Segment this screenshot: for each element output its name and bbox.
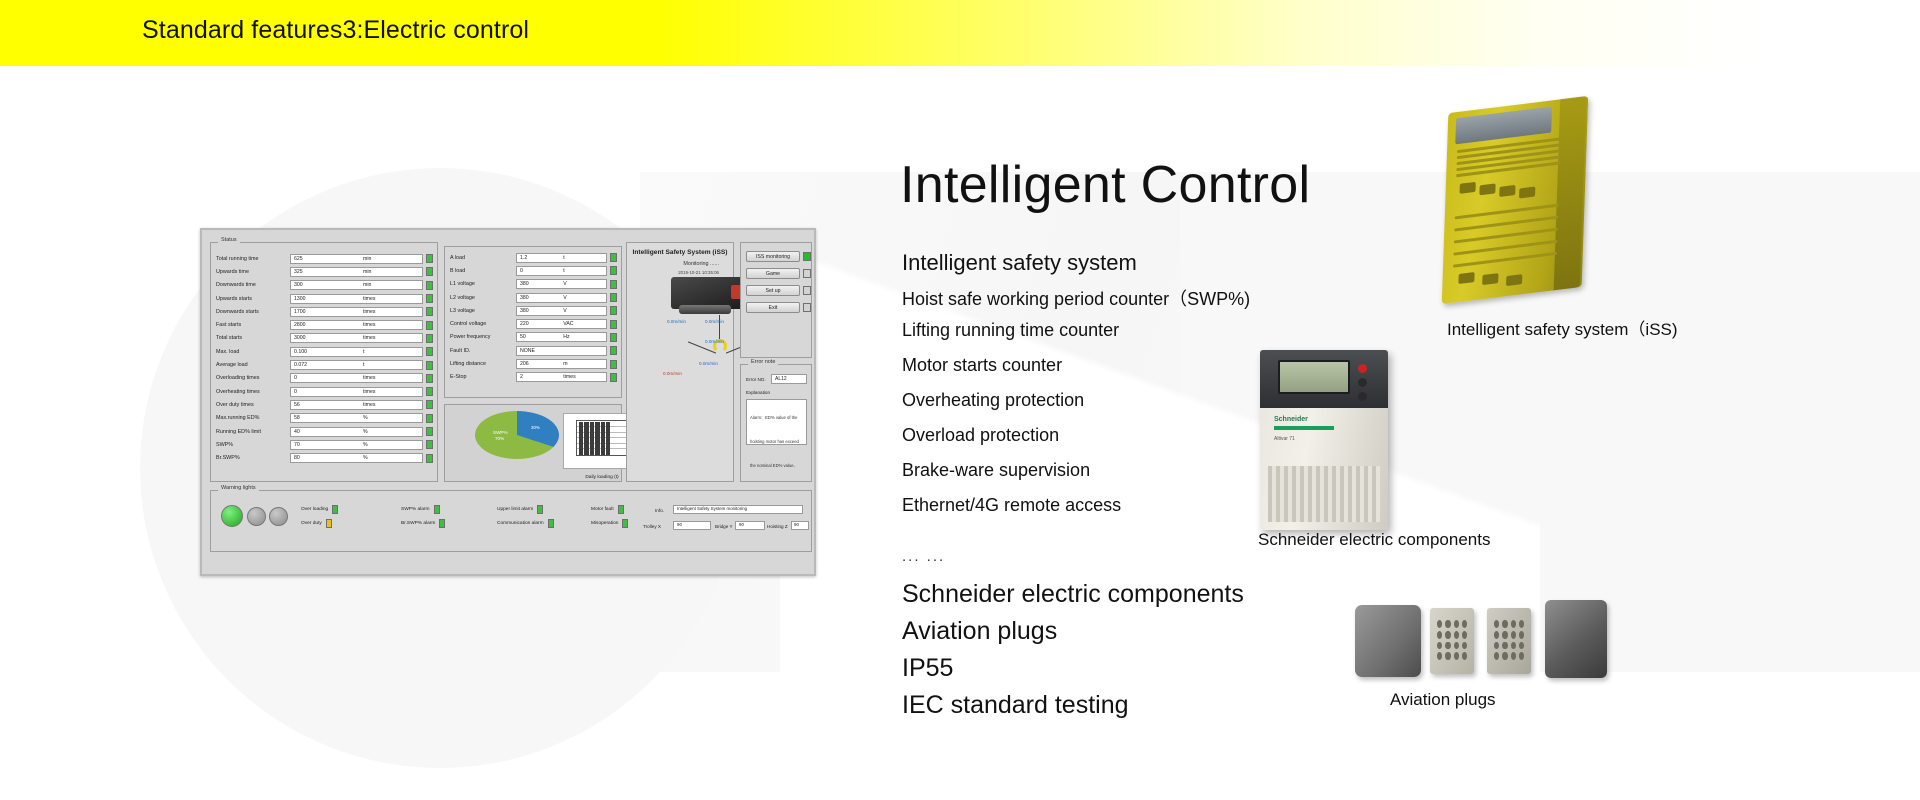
status-row-label: Overloading times: [216, 375, 290, 381]
status-row-value: 40: [291, 429, 300, 435]
status-row-label: Total starts: [216, 335, 290, 341]
speed-label-4: 0.0m/min: [699, 361, 718, 366]
lamp-yellow-off: [247, 507, 266, 526]
chart-group: SWP% 70% 30% Daily loading (t): [444, 404, 622, 482]
status-row: Over duty times56times: [216, 398, 433, 411]
status-row-value: 80: [291, 455, 300, 461]
error-note-group: Error note Error NO. AL12 Explanation Al…: [740, 364, 812, 482]
status-row-led: [610, 293, 617, 302]
status-row: Upwards starts1300times: [216, 292, 433, 305]
status-row-value: 58: [291, 415, 300, 421]
status-row-unit: V: [563, 295, 566, 301]
status-row-value: 0: [291, 375, 297, 381]
drive-model-text: Altivar 71: [1274, 436, 1295, 442]
trolley-value: 90: [677, 522, 682, 527]
hoist-drum: [679, 305, 731, 314]
warning-item: Communication alarm: [497, 519, 554, 528]
aviation-plug-3: [1487, 608, 1531, 674]
status-row-unit: V: [563, 281, 566, 287]
feature-item: Brake-ware supervision: [902, 460, 1090, 481]
status-row-field[interactable]: 325min: [290, 267, 423, 277]
status-row-label: Fault ID.: [450, 348, 516, 354]
hmi-button-led: [803, 286, 811, 295]
status-row-led: [426, 294, 433, 303]
status-row-label: Total running time: [216, 256, 290, 262]
measurement-rows: A load1.2tB load0tL1 voltage380VL2 volta…: [450, 251, 617, 384]
bridge-label: Bridge Y: [715, 524, 733, 529]
hmi-button-iss-monitoring[interactable]: ISS monitoring: [746, 251, 800, 262]
swp-pie-chart: SWP% 70% 30%: [475, 411, 559, 465]
chart-bar: [579, 422, 583, 455]
status-row-field[interactable]: 206m: [516, 359, 607, 369]
status-group-label: Status: [218, 237, 240, 243]
status-row-led: [426, 400, 433, 409]
status-row: Max. load0.100t: [216, 345, 433, 358]
status-left-rows: Total running time625minUpwards time325m…: [216, 252, 433, 465]
status-row-label: L1 voltage: [450, 281, 516, 287]
status-row-unit: times: [563, 374, 575, 380]
status-row-unit: times: [363, 375, 375, 381]
iss-module-image: [1442, 96, 1589, 304]
feature-item: Ethernet/4G remote access: [902, 495, 1121, 516]
status-row-field[interactable]: 380V: [516, 293, 607, 303]
feature-item: Overheating protection: [902, 390, 1084, 411]
warning-item: Motor fault: [591, 505, 624, 514]
status-row-unit: %: [363, 429, 368, 435]
status-row-unit: t: [563, 268, 564, 274]
status-row-led: [426, 334, 433, 343]
status-row-led: [426, 281, 433, 290]
status-row-field[interactable]: 1700times: [290, 307, 423, 317]
feature-item: Motor starts counter: [902, 355, 1062, 376]
status-row-label: Br.SWP%: [216, 455, 290, 461]
status-row-value: 0.100: [291, 349, 307, 355]
status-row-led: [426, 454, 433, 463]
status-row-label: Downwards time: [216, 282, 290, 288]
status-row-led: [426, 254, 433, 263]
status-row-value: 3000: [291, 335, 306, 341]
hoist-label: Hoisting Z: [767, 524, 788, 529]
status-row-led: [610, 306, 617, 315]
status-row-field[interactable]: 220VAC: [516, 319, 607, 329]
status-row: Overloading times0times: [216, 372, 433, 385]
warning-item: SWP% alarm: [401, 505, 440, 514]
status-row-unit: min: [363, 269, 371, 275]
status-row-label: SWP%: [216, 442, 290, 448]
status-row-field[interactable]: 0.072t: [290, 360, 423, 370]
explanation-box: Alarm：ED% value of the hoisting motor ha…: [746, 399, 807, 445]
status-row-value: 70: [291, 442, 300, 448]
drive-knob-black-2: [1358, 392, 1367, 401]
pie-value-swp: 70%: [495, 436, 504, 441]
status-row-field[interactable]: 1300times: [290, 294, 423, 304]
aviation-plug-1: [1355, 605, 1421, 677]
status-row: A load1.2t: [450, 251, 617, 264]
iss-view-date: 2019-10-21 10:35:06: [678, 270, 719, 275]
iss-monitor-view: Intelligent Safety System (iSS) Monitori…: [626, 242, 734, 482]
status-row-unit: times: [363, 389, 375, 395]
status-row: Fault ID.NONE: [450, 344, 617, 357]
chart-bar: [601, 422, 605, 455]
status-row-value: 300: [291, 282, 303, 288]
status-row-field[interactable]: 2800times: [290, 320, 423, 330]
status-row-label: A load: [450, 255, 516, 261]
status-row-unit: V: [563, 308, 566, 314]
status-row-value: 380: [517, 308, 529, 314]
status-row-value: 0: [517, 268, 523, 274]
ellipsis-line: ... ...: [902, 548, 945, 565]
status-row: L1 voltage380V: [450, 278, 617, 291]
status-row-label: Overheating times: [216, 389, 290, 395]
status-row-unit: Hz: [563, 334, 569, 340]
status-row: Fast starts2800times: [216, 318, 433, 331]
status-row-unit: m: [563, 361, 567, 367]
status-row-unit: min: [363, 282, 371, 288]
warning-item: Br.SWP% alarm: [401, 519, 445, 528]
status-row-led: [426, 267, 433, 276]
status-row: Upwards time325min: [216, 265, 433, 278]
explanation-text: Alarm：ED% value of the hoisting motor ha…: [750, 415, 799, 468]
status-row-unit: times: [363, 296, 375, 302]
status-row-field[interactable]: 0t: [516, 266, 607, 276]
caption-schneider: Schneider electric components: [1258, 530, 1490, 550]
status-row-field[interactable]: 70%: [290, 440, 423, 450]
status-row-value: 2: [517, 374, 523, 380]
hmi-button-set-up[interactable]: Set up: [746, 285, 800, 296]
status-row-label: Fast starts: [216, 322, 290, 328]
explanation-label: Explanation: [746, 390, 770, 395]
hmi-button-led: [803, 252, 811, 261]
aviation-plug-2: [1430, 608, 1474, 674]
chart-bar: [606, 422, 610, 455]
slide-root: Standard features3:Electric control Stat…: [0, 0, 1920, 800]
status-row-value: 2800: [291, 322, 306, 328]
lamp-green: [221, 505, 243, 527]
warning-item: Over duty: [301, 519, 332, 528]
iss-view-title: Intelligent Safety System (iSS): [627, 249, 733, 256]
status-row-field[interactable]: 50Hz: [516, 332, 607, 342]
status-group: Status Total running time625minUpwards t…: [210, 242, 438, 482]
status-row-label: Running ED% limit: [216, 429, 290, 435]
status-row-led: [610, 333, 617, 342]
status-row-led: [426, 347, 433, 356]
status-row-field[interactable]: 56times: [290, 400, 423, 410]
subheading: Intelligent safety system: [902, 250, 1137, 276]
hmi-button-game[interactable]: Game: [746, 268, 800, 279]
lamp-red-off: [269, 507, 288, 526]
big-line-item: IEC standard testing: [902, 691, 1129, 720]
status-row-value: 380: [517, 295, 529, 301]
status-row: Overheating times0times: [216, 385, 433, 398]
status-row: Total running time625min: [216, 252, 433, 265]
error-no-label: Error NO.: [746, 377, 766, 382]
status-row-field[interactable]: 58%: [290, 413, 423, 423]
status-row-value: 0.072: [291, 362, 307, 368]
big-line-item: Aviation plugs: [902, 617, 1057, 646]
measurement-group: A load1.2tB load0tL1 voltage380VL2 volta…: [444, 246, 622, 398]
info-value: Intelligent Safety System monitoring: [677, 506, 747, 511]
trolley-field[interactable]: 90: [673, 521, 711, 530]
status-row-label: Upwards starts: [216, 296, 290, 302]
page-title: Standard features3:Electric control: [142, 16, 529, 45]
status-row-value: NONE: [517, 348, 535, 354]
status-row: B load0t: [450, 264, 617, 277]
info-label: Info.: [655, 508, 664, 513]
bridge-field[interactable]: 90: [735, 521, 765, 530]
status-row-unit: %: [363, 442, 368, 448]
feature-item: Hoist safe working period counter（SWP%): [902, 285, 1250, 311]
status-row-value: 625: [291, 256, 303, 262]
status-row-unit: t: [363, 349, 364, 355]
status-row-led: [610, 280, 617, 289]
warning-item: Misoperation: [591, 519, 628, 528]
status-row: L2 voltage380V: [450, 291, 617, 304]
info-field[interactable]: Intelligent Safety System monitoring: [673, 505, 803, 514]
caption-iss: Intelligent safety system（iSS): [1447, 315, 1678, 340]
status-row-value: 50: [517, 334, 526, 340]
chart-bar: [595, 422, 599, 455]
status-row-unit: t: [363, 362, 364, 368]
hoist-field[interactable]: 90: [791, 521, 809, 530]
status-row-unit: times: [363, 322, 375, 328]
status-row-field[interactable]: 300min: [290, 280, 423, 290]
status-row-value: 56: [291, 402, 300, 408]
status-row: Power frequency50Hz: [450, 331, 617, 344]
status-row-label: Max.running ED%: [216, 415, 290, 421]
caption-plugs: Aviation plugs: [1390, 690, 1496, 710]
drive-knob-black: [1358, 378, 1367, 387]
hoist-value: 90: [794, 522, 799, 527]
drive-brand-text: Schneider: [1274, 416, 1308, 423]
status-row-led: [426, 307, 433, 316]
status-row-led: [610, 360, 617, 369]
iss-view-subtitle: Monitoring ......: [683, 261, 719, 267]
speed-label-2: 0.0m/min: [705, 319, 724, 324]
error-no-field[interactable]: AL12: [771, 374, 807, 384]
hmi-screenshot-panel: Status Total running time625minUpwards t…: [200, 228, 816, 576]
status-row-led: [426, 374, 433, 383]
status-row: Average load0.072t: [216, 358, 433, 371]
status-row-led: [610, 320, 617, 329]
status-row-value: 325: [291, 269, 303, 275]
feature-item: Overload protection: [902, 425, 1059, 446]
hmi-button-exit[interactable]: Exit: [746, 302, 800, 313]
side-button-group: ISS monitoringGameSet upExit: [740, 242, 812, 358]
status-row-field[interactable]: 1.2t: [516, 253, 607, 263]
schneider-drive-image: Schneider Altivar 71: [1260, 350, 1388, 530]
status-row-led: [426, 361, 433, 370]
feature-item: Lifting running time counter: [902, 320, 1119, 341]
pie-value-rest: 30%: [531, 425, 540, 430]
status-row-unit: VAC: [563, 321, 573, 327]
hmi-button-led: [803, 269, 811, 278]
status-row-label: Lifting distance: [450, 361, 516, 367]
status-row-field[interactable]: NONE: [516, 346, 607, 356]
warning-lights-group: Warning lights Over loadingOver dutySWP%…: [210, 490, 812, 552]
status-row-label: Average load: [216, 362, 290, 368]
status-row: Downwards starts1700times: [216, 305, 433, 318]
status-row-unit: %: [363, 455, 368, 461]
status-row-label: L3 voltage: [450, 308, 516, 314]
status-row-led: [610, 373, 617, 382]
status-row-label: L2 voltage: [450, 295, 516, 301]
hmi-button-led: [803, 303, 811, 312]
status-row-value: 1700: [291, 309, 306, 315]
status-row: Lifting distance206m: [450, 357, 617, 370]
status-row: Control voltage220VAC: [450, 317, 617, 330]
status-row: Br.SWP%80%: [216, 451, 433, 464]
error-note-label: Error note: [748, 359, 778, 365]
error-no-value: AL12: [775, 376, 787, 382]
status-row-unit: %: [363, 415, 368, 421]
headline: Intelligent Control: [900, 155, 1310, 215]
status-row-label: Downwards starts: [216, 309, 290, 315]
status-row-label: Max. load: [216, 349, 290, 355]
pie-label-swp: SWP%: [493, 430, 508, 435]
status-row-field[interactable]: 625min: [290, 254, 423, 264]
warning-item: Over loading: [301, 505, 338, 514]
status-row-unit: times: [363, 402, 375, 408]
status-row-label: Upwards time: [216, 269, 290, 275]
status-row-led: [426, 387, 433, 396]
status-row-field[interactable]: 40%: [290, 427, 423, 437]
status-row-label: B load: [450, 268, 516, 274]
status-row: Max.running ED%58%: [216, 412, 433, 425]
status-row-value: 220: [517, 321, 529, 327]
status-row-led: [610, 266, 617, 275]
status-row-field[interactable]: 3000times: [290, 333, 423, 343]
status-row: Running ED% limit40%: [216, 425, 433, 438]
status-row-led: [610, 253, 617, 262]
status-row-label: E-Stop: [450, 374, 516, 380]
status-row: E-Stop2times: [450, 371, 617, 384]
status-row: L3 voltage380V: [450, 304, 617, 317]
status-row-value: 206: [517, 361, 529, 367]
drive-knob-red: [1358, 364, 1367, 373]
status-row-label: Over duty times: [216, 402, 290, 408]
status-row-field[interactable]: 0times: [290, 373, 423, 383]
status-row-field[interactable]: 380V: [516, 279, 607, 289]
status-row-unit: t: [563, 255, 564, 261]
status-row-unit: times: [363, 335, 375, 341]
status-row-led: [426, 321, 433, 330]
status-row-field[interactable]: 2times: [516, 372, 607, 382]
status-row-field[interactable]: 80%: [290, 453, 423, 463]
status-row-value: 1300: [291, 296, 306, 302]
status-row-field[interactable]: 0.100t: [290, 347, 423, 357]
warning-lights-label: Warning lights: [218, 485, 259, 491]
big-line-item: IP55: [902, 654, 953, 683]
status-row-led: [610, 346, 617, 355]
status-row-label: Control voltage: [450, 321, 516, 327]
bridge-value: 90: [739, 522, 744, 527]
status-row: SWP%70%: [216, 438, 433, 451]
status-row-unit: min: [363, 256, 371, 262]
status-row-led: [426, 414, 433, 423]
status-row-unit: times: [363, 309, 375, 315]
status-row: Total starts3000times: [216, 332, 433, 345]
status-row-value: 380: [517, 281, 529, 287]
chart-bar: [584, 422, 588, 455]
warning-item: Upper limit alarm: [497, 505, 543, 514]
status-row-led: [426, 440, 433, 449]
status-row: Downwards time300min: [216, 279, 433, 292]
aviation-plug-4: [1545, 600, 1607, 678]
status-row-led: [426, 427, 433, 436]
status-row-value: 1.2: [517, 255, 527, 261]
speed-label-1: 0.0m/min: [667, 319, 686, 324]
status-row-field[interactable]: 380V: [516, 306, 607, 316]
chart-bar: [590, 422, 594, 455]
trolley-label: Trolley X: [643, 524, 661, 529]
speed-label-5: 0.0m/min: [663, 371, 682, 376]
status-row-field[interactable]: 0times: [290, 387, 423, 397]
big-line-item: Schneider electric components: [902, 580, 1244, 609]
status-row-label: Power frequency: [450, 334, 516, 340]
speed-label-3: 0.0m/min: [705, 339, 724, 344]
status-row-value: 0: [291, 389, 297, 395]
